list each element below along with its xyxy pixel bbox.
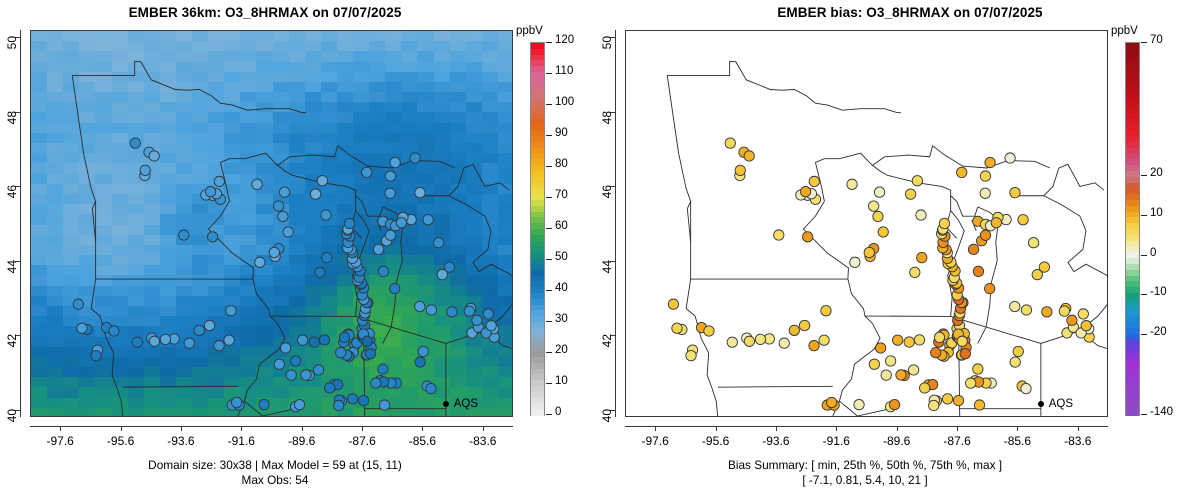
figure-root: EMBER 36km: O3_8HRMAX on 07/07/2025 AQS … [0, 0, 1200, 502]
bias-map: AQS [625, 30, 1108, 417]
colorbar-left-title: ppbV [516, 25, 543, 37]
colorbar-right-strip [1125, 42, 1140, 416]
aqs-legend-left: AQS [443, 398, 478, 410]
aqs-markers-left [31, 31, 512, 416]
aqs-legend-right: AQS [1038, 398, 1073, 410]
aqs-legend-label: AQS [1049, 398, 1073, 410]
aqs-legend-label: AQS [454, 398, 478, 410]
colorbar-right: ppbV -140-20-100102070 [1125, 0, 1200, 502]
aqs-dot-icon [443, 401, 449, 407]
left-caption-line2: Max Obs: 54 [0, 473, 575, 488]
panel-bias: EMBER bias: O3_8HRMAX on 07/07/2025 AQS … [600, 0, 1200, 502]
colorbar-right-title: ppbV [1111, 25, 1138, 37]
left-caption-line1: Domain size: 30x38 | Max Model = 59 at (… [0, 458, 575, 473]
model-map: AQS [30, 30, 513, 417]
left-panel-title: EMBER 36km: O3_8HRMAX on 07/07/2025 [0, 5, 530, 20]
aqs-dot-icon [1038, 401, 1044, 407]
panel-model: EMBER 36km: O3_8HRMAX on 07/07/2025 AQS … [0, 0, 600, 502]
right-caption-line1: Bias Summary: [ min, 25th %, 50th %, 75t… [565, 458, 1165, 473]
right-panel-title: EMBER bias: O3_8HRMAX on 07/07/2025 [695, 5, 1125, 20]
colorbar-left-strip [530, 42, 545, 416]
right-caption-line2: [ -7.1, 0.81, 5.4, 10, 21 ] [565, 473, 1165, 488]
bias-markers-right [626, 31, 1107, 416]
